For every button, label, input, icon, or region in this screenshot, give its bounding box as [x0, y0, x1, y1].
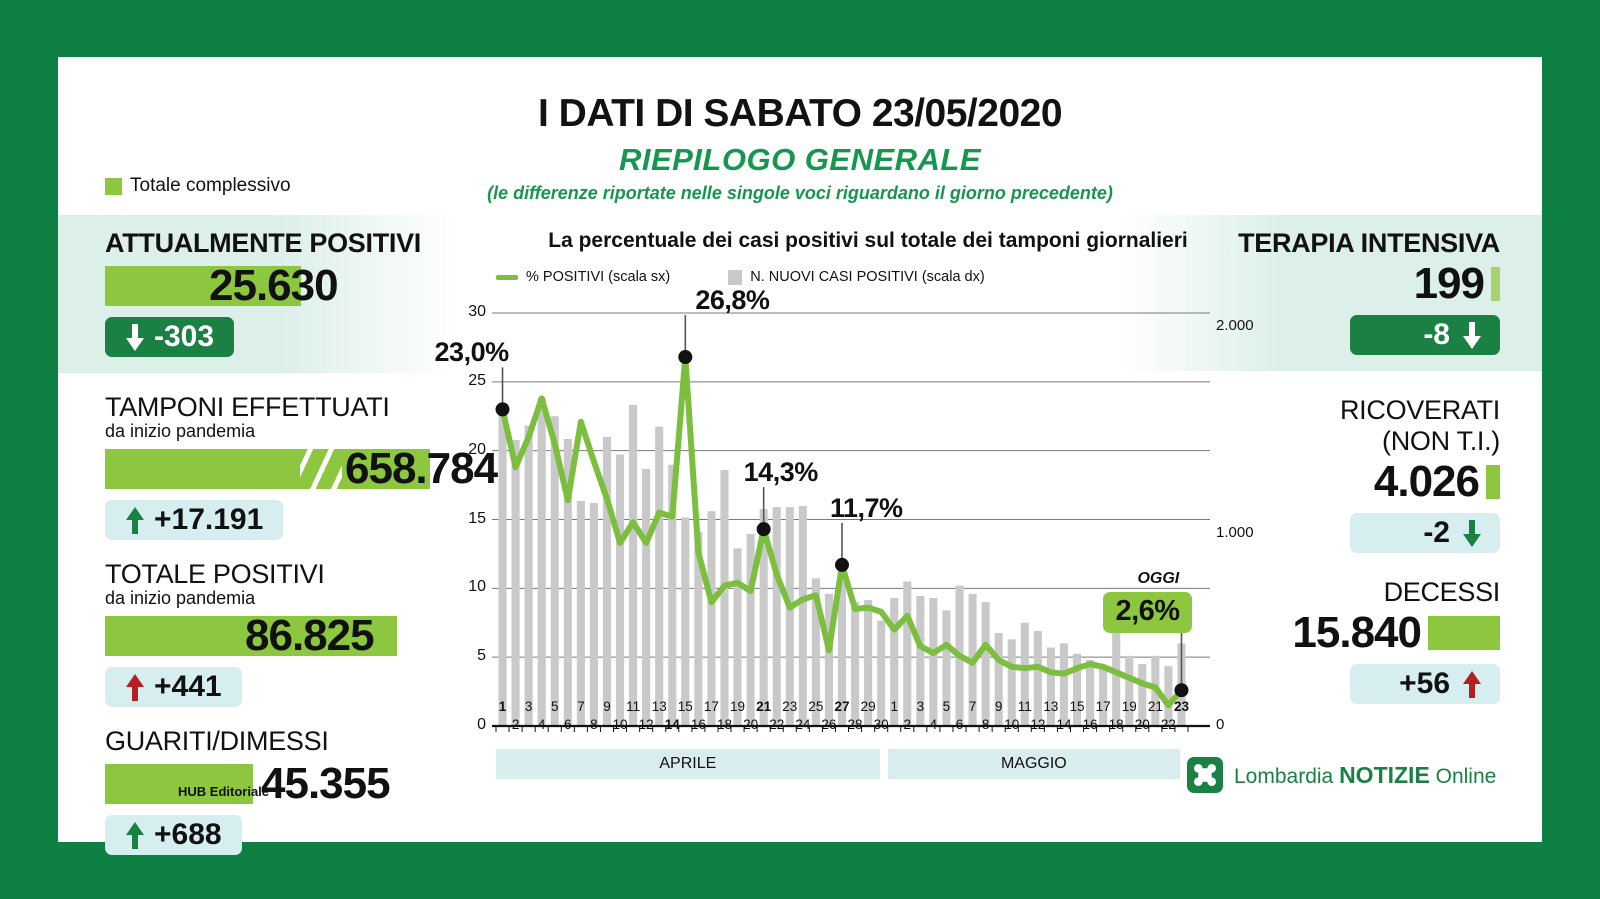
legend-swatch-icon	[105, 178, 122, 195]
page-title: I DATI DI SABATO 23/05/2020	[58, 92, 1542, 136]
x-tick-label: 1	[499, 699, 507, 714]
x-tick-label: 15	[1070, 699, 1085, 714]
plot-area: 051015202530 01.0002.000 23,0%26,8%14,3%…	[458, 291, 1278, 761]
month-band: MAGGIO	[888, 749, 1180, 779]
x-tick-label: 15	[678, 699, 693, 714]
x-tick-label: 2	[904, 717, 912, 732]
x-tick-label: 23	[782, 699, 797, 714]
x-tick-label: 24	[795, 717, 810, 732]
line-marker-icon	[496, 275, 518, 280]
arrow-up-icon	[125, 507, 145, 534]
arrow-down-green-icon	[1462, 520, 1482, 547]
stat-delta-badge: -8	[1350, 315, 1500, 355]
x-tick-label: 23	[1174, 699, 1189, 714]
stat-totale-positivi: TOTALE POSITIVI da inizio pandemia 86.82…	[58, 559, 458, 707]
x-tick-label: 20	[1135, 717, 1150, 732]
logo-part-3: Online	[1430, 765, 1497, 788]
x-tick-label: 4	[930, 717, 938, 732]
square-marker-icon	[728, 270, 742, 285]
stat-subtitle: da inizio pandemia	[58, 588, 458, 609]
x-tick-label: 7	[969, 699, 977, 714]
x-tick-label: 1	[890, 699, 898, 714]
arrow-up-red-icon	[125, 674, 145, 701]
chart-legend: % POSITIVI (scala sx) N. NUOVI CASI POSI…	[496, 269, 1278, 285]
x-tick-label: 6	[956, 717, 964, 732]
y-tick-label: 30	[458, 303, 486, 321]
stat-delta-value: +441	[154, 670, 222, 704]
logo-part-2: NOTIZIE	[1339, 762, 1430, 788]
legend-item-nuovi-casi: N. NUOVI CASI POSITIVI (scala dx)	[728, 269, 984, 285]
stat-delta-value: -8	[1423, 318, 1450, 352]
x-tick-label: 5	[943, 699, 951, 714]
x-tick-label: 17	[704, 699, 719, 714]
x-tick-label: 14	[665, 717, 680, 732]
stat-title: TOTALE POSITIVI	[58, 559, 458, 590]
x-axis-labels: 1234567891011121314151617181920212223242…	[458, 697, 1278, 743]
x-tick-label: 10	[613, 717, 628, 732]
x-tick-label: 9	[995, 699, 1003, 714]
logo-part-1: Lombardia	[1234, 765, 1339, 788]
x-tick-label: 19	[1122, 699, 1137, 714]
arrow-down-icon	[125, 324, 145, 351]
x-tick-label: 3	[917, 699, 925, 714]
stat-delta-value: -2	[1423, 516, 1450, 550]
stat-delta-badge: +17.191	[105, 500, 283, 540]
infographic-root: I DATI DI SABATO 23/05/2020 RIEPILOGO GE…	[0, 0, 1600, 899]
stat-delta-value: +688	[154, 818, 222, 852]
month-band: APRILE	[496, 749, 880, 779]
stat-value: 86.825	[245, 616, 374, 656]
x-tick-label: 9	[603, 699, 611, 714]
stat-value: 4.026	[1374, 457, 1479, 507]
x-tick-label: 16	[691, 717, 706, 732]
legend-totale-complessivo: Totale complessivo	[105, 175, 291, 197]
x-tick-label: 12	[1030, 717, 1045, 732]
legend-label: % POSITIVI (scala sx)	[526, 269, 670, 285]
stat-title: TAMPONI EFFETTUATI	[58, 392, 458, 423]
legend-label: N. NUOVI CASI POSITIVI (scala dx)	[750, 269, 984, 285]
stat-title: GUARITI/DIMESSI	[58, 726, 458, 757]
y-tick-label: 5	[458, 647, 486, 665]
stat-subtitle: da inizio pandemia	[58, 421, 458, 442]
data-point-annotation: 26,8%	[695, 285, 769, 316]
stat-value: 45.355	[261, 764, 390, 804]
arrow-up-red-icon	[1462, 671, 1482, 698]
stat-delta-badge: +688	[105, 815, 242, 855]
data-point-annotation: 14,3%	[744, 457, 818, 488]
x-tick-label: 5	[551, 699, 559, 714]
x-tick-label: 4	[538, 717, 546, 732]
x-tick-label: 8	[982, 717, 990, 732]
stat-delta-badge: -2	[1350, 513, 1500, 553]
stat-delta-badge: +441	[105, 667, 242, 707]
x-tick-label: 2	[512, 717, 520, 732]
x-tick-label: 26	[821, 717, 836, 732]
x-tick-label: 11	[1018, 699, 1032, 714]
stat-value-row: 86.825	[58, 614, 458, 658]
stat-title: ATTUALMENTE POSITIVI	[58, 228, 458, 259]
arrow-up-icon	[125, 822, 145, 849]
value-bar	[1491, 267, 1500, 301]
legend-label: Totale complessivo	[130, 175, 291, 197]
x-tick-label: 18	[1109, 717, 1124, 732]
x-tick-label: 29	[861, 699, 876, 714]
logo[interactable]: Lombardia NOTIZIE Online	[1187, 757, 1496, 793]
stat-delta-value: +17.191	[154, 503, 263, 537]
value-bar	[1428, 616, 1500, 650]
data-point-annotation: 23,0%	[435, 337, 509, 368]
stat-value: 199	[1414, 259, 1484, 309]
stat-value-row: 25.630	[58, 264, 458, 308]
stat-value: 658.784	[345, 449, 497, 489]
x-tick-label: 25	[808, 699, 823, 714]
left-stats-column: ATTUALMENTE POSITIVI 25.630 -303 TAMPONI…	[58, 215, 458, 855]
chart-title: La percentuale dei casi positivi sul tot…	[458, 229, 1278, 253]
y-tick-label: 10	[458, 578, 486, 596]
stat-delta-badge: -303	[105, 317, 234, 357]
y2-tick-label: 1.000	[1216, 524, 1254, 541]
page-subtitle: RIEPILOGO GENERALE	[58, 142, 1542, 178]
x-tick-label: 7	[577, 699, 585, 714]
x-tick-label: 12	[639, 717, 654, 732]
x-tick-label: 22	[1161, 717, 1176, 732]
logo-text: Lombardia NOTIZIE Online	[1234, 762, 1496, 789]
x-tick-label: 27	[834, 699, 849, 714]
arrow-down-icon	[1462, 322, 1482, 349]
x-tick-label: 19	[730, 699, 745, 714]
stat-value-row: 658.784	[58, 447, 458, 491]
y2-tick-label: 2.000	[1216, 317, 1254, 334]
chart-svg	[458, 291, 1278, 761]
x-tick-label: 8	[590, 717, 598, 732]
credit-hub-editoriale: HUB Editoriale	[178, 784, 269, 799]
y-tick-label: 25	[458, 372, 486, 390]
x-tick-label: 14	[1056, 717, 1071, 732]
x-tick-label: 10	[1004, 717, 1019, 732]
x-tick-label: 21	[756, 699, 771, 714]
stat-value: 25.630	[209, 266, 338, 306]
x-tick-label: 17	[1096, 699, 1111, 714]
x-tick-label: 20	[743, 717, 758, 732]
chart-panel: La percentuale dei casi positivi sul tot…	[458, 215, 1278, 855]
x-tick-label: 18	[717, 717, 732, 732]
value-bar	[1486, 465, 1500, 499]
oggi-label: OGGI	[1137, 570, 1179, 588]
x-tick-label: 22	[769, 717, 784, 732]
x-tick-label: 11	[626, 699, 640, 714]
x-tick-label: 30	[874, 717, 889, 732]
x-tick-label: 3	[525, 699, 533, 714]
stat-attualmente-positivi: ATTUALMENTE POSITIVI 25.630 -303	[58, 215, 458, 373]
x-tick-label: 16	[1083, 717, 1098, 732]
month-bands: APRILEMAGGIO	[496, 749, 1188, 779]
y-tick-label: 15	[458, 510, 486, 528]
data-point-annotation: 11,7%	[830, 493, 903, 524]
stat-delta-value: +56	[1399, 667, 1450, 701]
lombardia-pinwheel-icon	[1187, 757, 1223, 793]
stat-delta-value: -303	[154, 320, 214, 354]
x-tick-label: 13	[652, 699, 667, 714]
legend-item-percent: % POSITIVI (scala sx)	[496, 269, 670, 285]
stat-delta-badge: +56	[1350, 664, 1500, 704]
stat-value: 15.840	[1292, 608, 1421, 658]
x-tick-label: 6	[564, 717, 572, 732]
x-tick-label: 21	[1148, 699, 1163, 714]
white-card: I DATI DI SABATO 23/05/2020 RIEPILOGO GE…	[58, 57, 1542, 842]
oggi-value-badge: 2,6%	[1103, 592, 1191, 633]
stat-tamponi-effettuati: TAMPONI EFFETTUATI da inizio pandemia 65…	[58, 392, 458, 540]
x-tick-label: 13	[1043, 699, 1058, 714]
x-tick-label: 28	[848, 717, 863, 732]
